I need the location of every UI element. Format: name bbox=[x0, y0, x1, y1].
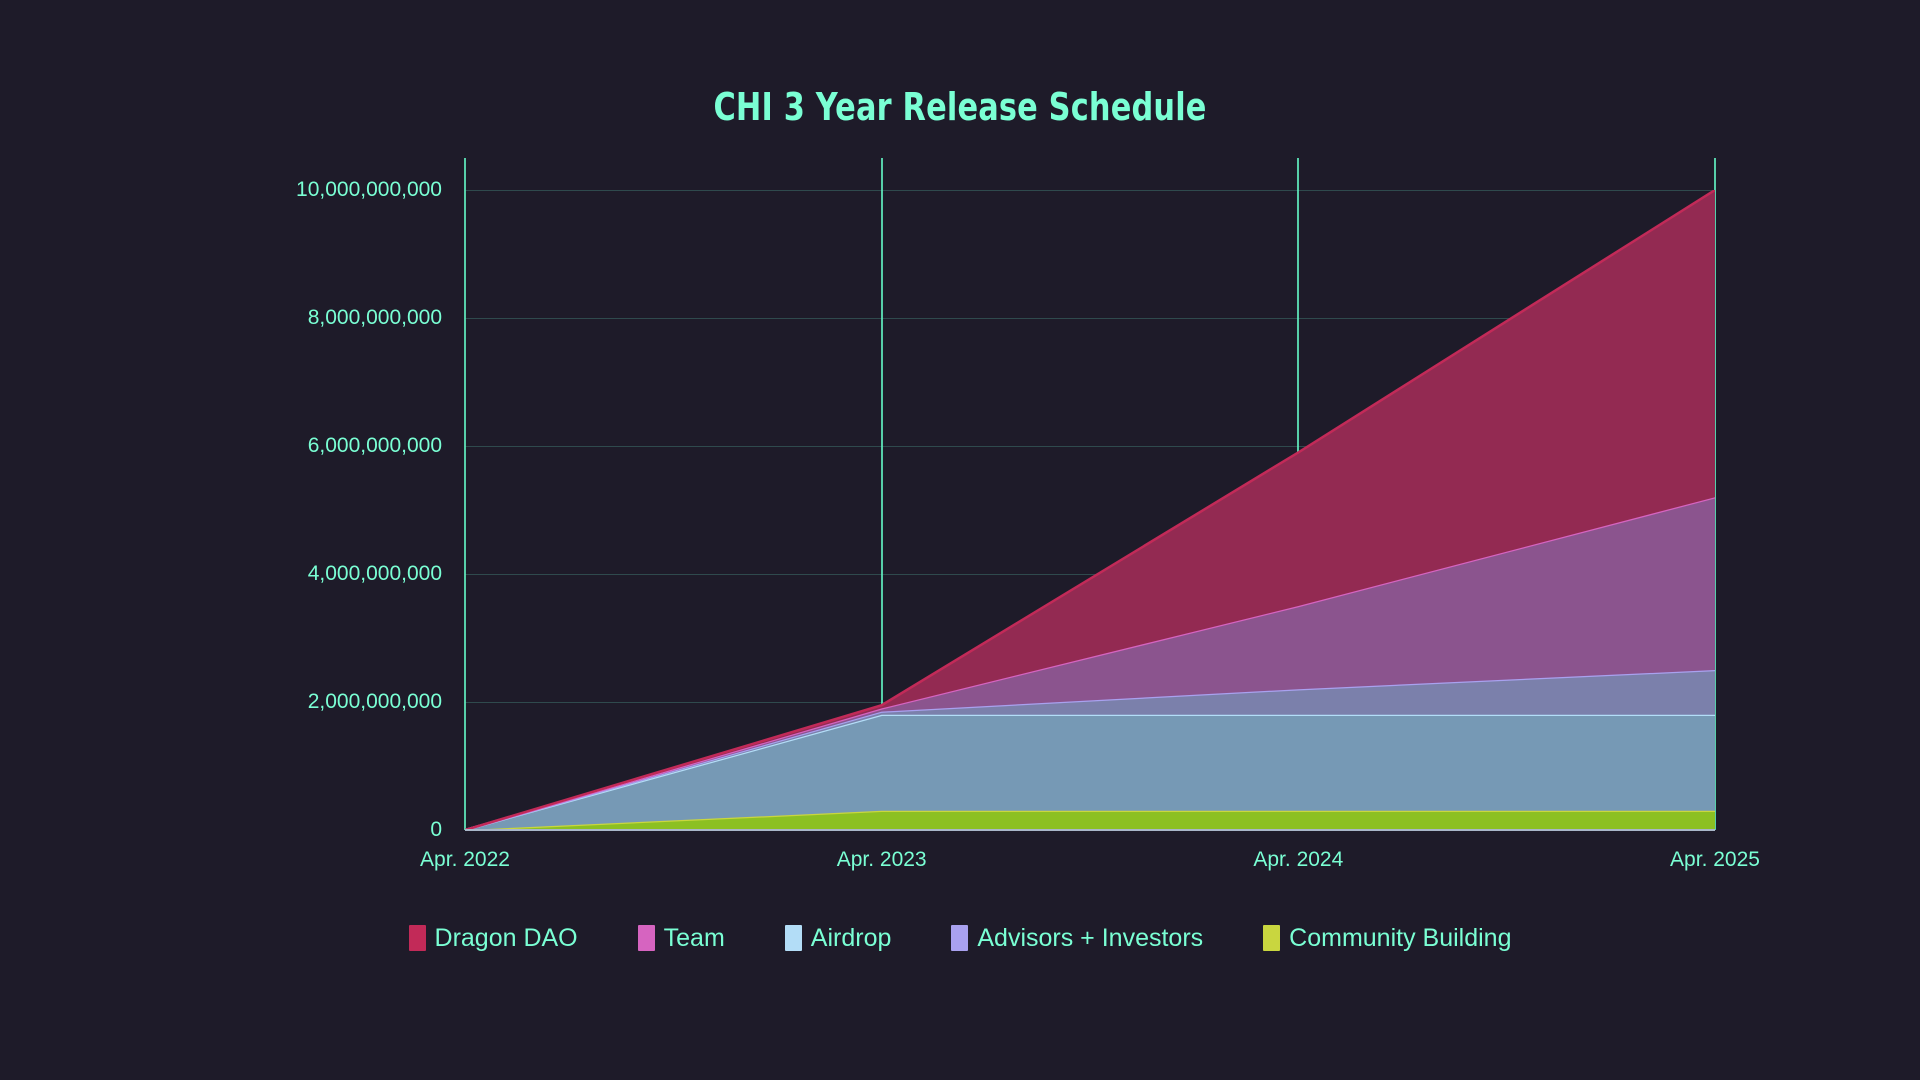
x-axis-tick-label: Apr. 2024 bbox=[1253, 848, 1343, 872]
chart-legend: Dragon DAOTeamAirdropAdvisors + Investor… bbox=[0, 925, 1920, 951]
legend-item[interactable]: Team bbox=[638, 925, 725, 951]
legend-item-label: Team bbox=[664, 926, 725, 951]
legend-item[interactable]: Advisors + Investors bbox=[951, 925, 1203, 951]
legend-swatch-icon bbox=[1263, 925, 1280, 951]
legend-item-label: Dragon DAO bbox=[435, 926, 578, 951]
plot-area bbox=[465, 190, 1715, 830]
stacked-area-series bbox=[465, 190, 1715, 830]
y-axis-tick-label: 0 bbox=[430, 818, 442, 842]
legend-item-label: Community Building bbox=[1289, 926, 1511, 951]
x-axis-tick-label: Apr. 2025 bbox=[1670, 848, 1760, 872]
plot-wrapper: 02,000,000,0004,000,000,0006,000,000,000… bbox=[0, 0, 1920, 1080]
legend-swatch-icon bbox=[951, 925, 968, 951]
x-axis-tick-label: Apr. 2023 bbox=[837, 848, 927, 872]
legend-item[interactable]: Dragon DAO bbox=[409, 925, 578, 951]
legend-item[interactable]: Airdrop bbox=[785, 925, 892, 951]
legend-item-label: Advisors + Investors bbox=[977, 926, 1203, 951]
y-axis-tick-label: 6,000,000,000 bbox=[308, 434, 442, 458]
x-axis-line bbox=[465, 829, 1715, 831]
y-axis-tick-label: 4,000,000,000 bbox=[308, 562, 442, 586]
legend-item[interactable]: Community Building bbox=[1263, 925, 1511, 951]
chart-root: CHI 3 Year Release Schedule 02,000,000,0… bbox=[0, 0, 1920, 1080]
y-axis-tick-label: 2,000,000,000 bbox=[308, 690, 442, 714]
legend-swatch-icon bbox=[638, 925, 655, 951]
y-axis-tick-label: 8,000,000,000 bbox=[308, 306, 442, 330]
legend-item-label: Airdrop bbox=[811, 926, 892, 951]
legend-swatch-icon bbox=[409, 925, 426, 951]
legend-swatch-icon bbox=[785, 925, 802, 951]
x-axis-tick-label: Apr. 2022 bbox=[420, 848, 510, 872]
y-axis-tick-label: 10,000,000,000 bbox=[296, 178, 442, 202]
